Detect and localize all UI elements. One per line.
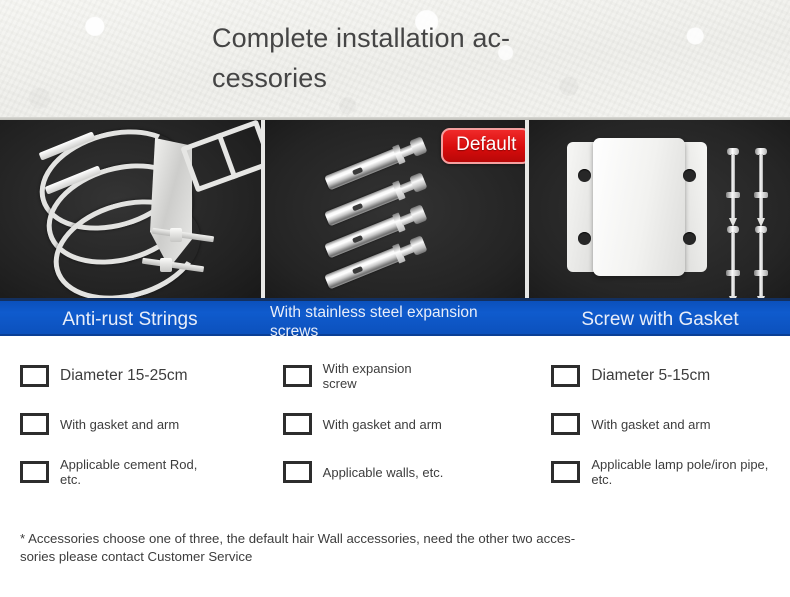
- option-item[interactable]: Applicable lamp pole/iron pipe, etc.: [521, 448, 790, 496]
- option-item[interactable]: Diameter 5-15cm: [521, 352, 790, 400]
- checkbox[interactable]: [283, 413, 312, 435]
- option-label: Diameter 15-25cm: [60, 367, 188, 385]
- option-label: Applicable walls, etc.: [323, 465, 444, 480]
- product-accessories-infographic: Complete installation ac- cessories: [0, 0, 790, 597]
- option-item[interactable]: With gasket and arm: [0, 400, 259, 448]
- option-row: Applicable cement Rod, etc. Applicable w…: [0, 448, 790, 496]
- option-label: With gasket and arm: [323, 417, 442, 432]
- option-row: Diameter 15-25cm With expansion screw Di…: [0, 352, 790, 400]
- checkbox[interactable]: [551, 365, 580, 387]
- option-item[interactable]: Applicable walls, etc.: [259, 448, 522, 496]
- caption-expansion-screws-line1: With stainless steel expansion: [270, 303, 530, 322]
- checkbox[interactable]: [20, 413, 49, 435]
- accessory-panel-expansion-screws[interactable]: Default: [261, 120, 526, 298]
- caption-anti-rust-strings: Anti-rust Strings: [0, 301, 260, 334]
- hero-banner: Complete installation ac- cessories: [0, 0, 790, 120]
- option-label: Diameter 5-15cm: [591, 367, 710, 385]
- default-badge: Default: [441, 128, 525, 164]
- accessory-photo-strip: Default: [0, 120, 790, 298]
- option-label: With gasket and arm: [591, 417, 710, 432]
- checkbox[interactable]: [283, 461, 312, 483]
- checkbox[interactable]: [20, 461, 49, 483]
- accessory-panel-screw-with-gasket[interactable]: [525, 120, 790, 298]
- caption-expansion-screws: With stainless steel expansion screws: [260, 301, 530, 334]
- option-item[interactable]: With expansion screw: [259, 352, 522, 400]
- option-row: With gasket and arm With gasket and arm …: [0, 400, 790, 448]
- anti-rust-band-clamp-icon: [0, 120, 261, 298]
- option-label: With gasket and arm: [60, 417, 179, 432]
- accessory-caption-band: Anti-rust Strings With stainless steel e…: [0, 298, 790, 336]
- accessory-panel-anti-rust-strings[interactable]: [0, 120, 261, 298]
- footnote-text: * Accessories choose one of three, the d…: [20, 530, 768, 566]
- option-label: With expansion screw: [323, 361, 412, 391]
- option-label: Applicable cement Rod, etc.: [60, 457, 197, 487]
- checkbox[interactable]: [551, 413, 580, 435]
- option-item[interactable]: With gasket and arm: [259, 400, 522, 448]
- checkbox[interactable]: [283, 365, 312, 387]
- option-item[interactable]: With gasket and arm: [521, 400, 790, 448]
- option-item[interactable]: Diameter 15-25cm: [0, 352, 259, 400]
- option-label: Applicable lamp pole/iron pipe, etc.: [591, 457, 768, 487]
- page-title: Complete installation ac- cessories: [212, 18, 582, 98]
- accessory-option-list: Diameter 15-25cm With expansion screw Di…: [0, 336, 790, 496]
- checkbox[interactable]: [551, 461, 580, 483]
- caption-screw-with-gasket: Screw with Gasket: [530, 301, 790, 334]
- checkbox[interactable]: [20, 365, 49, 387]
- option-item[interactable]: Applicable cement Rod, etc.: [0, 448, 259, 496]
